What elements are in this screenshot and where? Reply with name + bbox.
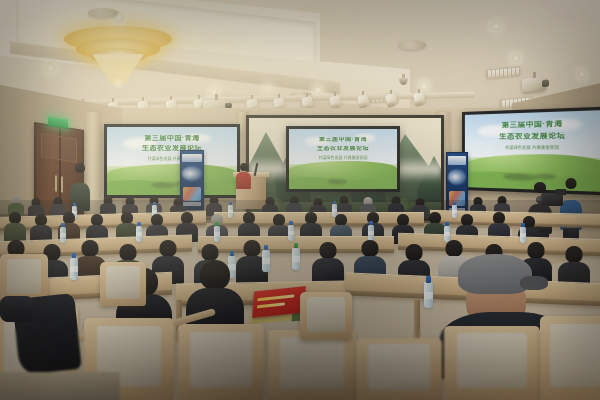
chair[interactable] xyxy=(0,254,48,302)
water-bottle xyxy=(520,227,526,243)
chandelier xyxy=(64,22,172,84)
ceiling-speaker-icon xyxy=(398,40,426,50)
chair[interactable] xyxy=(540,316,600,400)
water-bottle xyxy=(262,250,270,272)
slide-title-center-line1: 第三届中国·青海 xyxy=(295,137,390,145)
projection-screen-left: 第三届中国·青海 生态农业发展论坛 共谋绿色发展 共建美丽家园 xyxy=(104,124,240,198)
downlight xyxy=(46,63,56,73)
chair[interactable] xyxy=(444,326,540,400)
track-spotlight xyxy=(414,89,425,107)
audience-member xyxy=(4,212,26,242)
water-bottle xyxy=(288,225,294,241)
coat-sleeve xyxy=(0,296,34,322)
ceiling-speaker-icon xyxy=(88,8,118,18)
floor xyxy=(0,372,120,400)
slide-title-left-line1: 第三届中国·青海 xyxy=(115,135,229,144)
chair[interactable] xyxy=(300,292,352,340)
water-bottle xyxy=(424,282,433,308)
chair[interactable] xyxy=(178,324,264,400)
ceiling-projector-right xyxy=(522,77,546,93)
baseball-cap xyxy=(458,254,532,294)
downlight xyxy=(314,86,322,94)
chandelier-tip-glow xyxy=(110,78,126,88)
water-bottle xyxy=(368,225,374,241)
cap-brim xyxy=(520,276,548,290)
slide-title-left-line2: 生态农业发展论坛 xyxy=(115,145,229,154)
water-bottle xyxy=(70,258,78,280)
downlight xyxy=(491,21,501,31)
presenter-at-podium xyxy=(236,163,251,189)
camera-viewfinder-icon xyxy=(556,189,566,195)
water-bottle xyxy=(228,205,233,218)
downlight xyxy=(578,70,586,78)
track-spotlight xyxy=(386,90,397,108)
water-bottle xyxy=(292,248,300,270)
water-bottle xyxy=(60,227,66,243)
chair[interactable] xyxy=(356,338,442,400)
slide-title-center-line2: 生态农业发展论坛 xyxy=(295,146,390,154)
audience-member xyxy=(312,242,344,286)
downlight xyxy=(512,54,520,62)
downlight xyxy=(265,85,271,91)
water-bottle xyxy=(136,226,142,242)
chair[interactable] xyxy=(100,262,146,306)
slide-title-right-line2: 生态农业发展论坛 xyxy=(472,131,597,142)
slide-subtitle-center: 共谋绿色发展 共建美丽家园 xyxy=(304,155,382,161)
track-spotlight xyxy=(358,91,369,109)
chair[interactable] xyxy=(268,330,356,400)
slide-subtitle-right: 共谋绿色发展 共建美丽家园 xyxy=(483,144,585,150)
projection-screen-center: 第三届中国·青海 生态农业发展论坛 共谋绿色发展 共建美丽家园 xyxy=(286,126,400,192)
conference-room-photograph: 第三届中国·青海 生态农业发展论坛 共谋绿色发展 共建美丽家园 第三届中国·青海… xyxy=(0,0,600,400)
water-bottle xyxy=(214,226,220,242)
slide-subtitle-left: 共谋绿色发展 共建美丽家园 xyxy=(125,156,219,162)
